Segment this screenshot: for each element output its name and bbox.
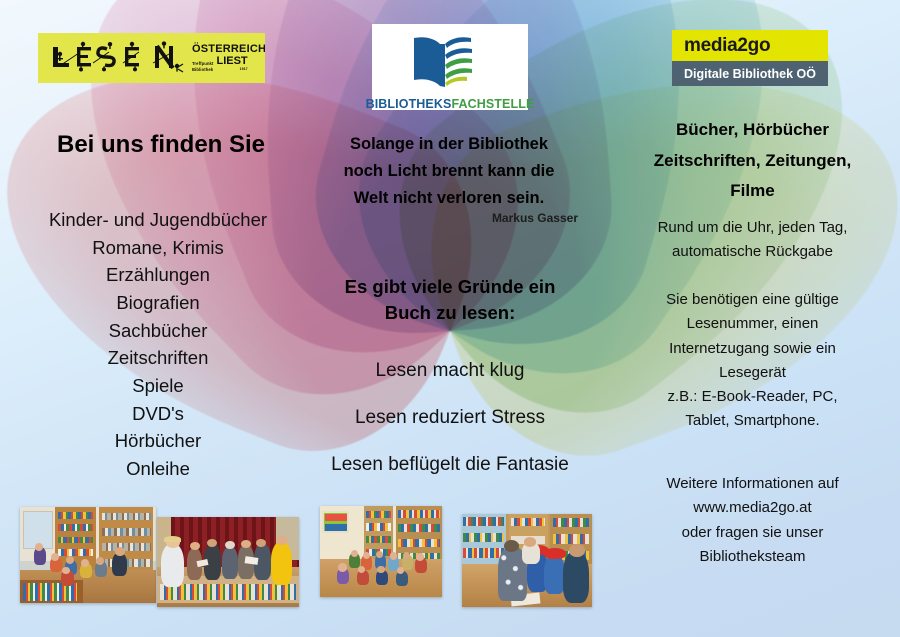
media2go-logo: media2go Digitale Bibliothek OÖ xyxy=(672,30,828,86)
quote-text: Solange in der Bibliotheknoch Licht bren… xyxy=(320,131,578,213)
left-column-heading: Bei uns finden Sie xyxy=(28,131,294,159)
availability-line-1: automatische Rückgabe xyxy=(620,240,885,264)
open-book-icon xyxy=(404,30,496,97)
lesen-wordmark-icon xyxy=(47,41,187,75)
bibliotheksfachstelle-wordmark: BIBLIOTHEKSFACHSTELLE xyxy=(366,97,535,111)
right-paragraph-availability: Rund um die Uhr, jeden Tag,automatische … xyxy=(620,216,885,265)
lesen-logo-year: 1917 xyxy=(216,68,247,72)
lesen-logo-small1: Treffpunkt xyxy=(192,61,213,66)
right-heading-line-2: Filme xyxy=(620,176,885,207)
media2go-subtitle: Digitale Bibliothek OÖ xyxy=(684,67,816,81)
requirement-line-3: Lesegerät xyxy=(620,361,885,385)
bfs-word-b: FACHSTELLE xyxy=(451,97,534,111)
reason-1: Lesen reduziert Stress xyxy=(300,407,600,429)
middle-heading-line-0: Es gibt viele Gründe ein xyxy=(312,274,588,300)
lesen-logo-line1: ÖSTERREICH xyxy=(192,44,265,55)
requirement-line-1: Lesenummer, einen xyxy=(620,312,885,336)
bibliotheksfachstelle-logo: BIBLIOTHEKSFACHSTELLE xyxy=(372,24,528,110)
quote-line-2: Welt nicht verloren sein. xyxy=(320,185,578,212)
reasons-list: Lesen macht klugLesen reduziert StressLe… xyxy=(300,360,600,501)
media2go-subtitle-bar: Digitale Bibliothek OÖ xyxy=(672,61,828,86)
middle-heading-line-1: Buch zu lesen: xyxy=(312,300,588,326)
requirement-line-2: Internetzugang sowie ein xyxy=(620,337,885,361)
lesen-oesterreich-liest-logo: ÖSTERREICH Treffpunkt Bibliothek LIEST 1… xyxy=(38,33,265,83)
photo-library-children-group xyxy=(20,507,156,603)
lesen-logo-small2: Bibliothek xyxy=(192,67,213,72)
lesen-logo-line2: LIEST xyxy=(216,56,247,67)
middle-column-heading: Es gibt viele Gründe einBuch zu lesen: xyxy=(312,274,588,327)
right-paragraph-more-info: Weitere Informationen aufwww.media2go.at… xyxy=(620,472,885,569)
left-list-item-3: Biografien xyxy=(8,289,308,317)
quote-author: Markus Gasser xyxy=(320,211,578,225)
more-info-line-2: oder fragen sie unser xyxy=(620,521,885,545)
photo-class-visit-bookshelves xyxy=(320,506,442,597)
left-list-item-9: Onleihe xyxy=(8,455,308,483)
media2go-title: media2go xyxy=(684,35,770,57)
bfs-word-a: BIBLIOTHEKS xyxy=(366,97,452,111)
right-heading-line-0: Bücher, Hörbücher xyxy=(620,115,885,146)
lesen-logo-text: ÖSTERREICH Treffpunkt Bibliothek LIEST 1… xyxy=(192,44,265,72)
more-info-line-1: www.media2go.at xyxy=(620,496,885,520)
left-column-list: Kinder- und JugendbücherRomane, KrimisEr… xyxy=(8,206,308,483)
more-info-line-0: Weitere Informationen auf xyxy=(620,472,885,496)
photo-children-reading-floor xyxy=(462,514,592,607)
photo-book-sale-event xyxy=(157,517,299,607)
quote-line-0: Solange in der Bibliothek xyxy=(320,131,578,158)
requirement-line-4: z.B.: E-Book-Reader, PC, xyxy=(620,385,885,409)
requirement-line-5: Tablet, Smartphone. xyxy=(620,409,885,433)
reason-2: Lesen beflügelt die Fantasie xyxy=(300,454,600,476)
poster-root: ÖSTERREICH Treffpunkt Bibliothek LIEST 1… xyxy=(0,0,900,637)
right-heading-line-1: Zeitschriften, Zeitungen, xyxy=(620,146,885,177)
left-list-item-2: Erzählungen xyxy=(8,261,308,289)
availability-line-0: Rund um die Uhr, jeden Tag, xyxy=(620,216,885,240)
right-column-heading: Bücher, HörbücherZeitschriften, Zeitunge… xyxy=(620,115,885,207)
quote-line-1: noch Licht brennt kann die xyxy=(320,158,578,185)
left-list-item-8: Hörbücher xyxy=(8,427,308,455)
more-info-line-3: Bibliotheksteam xyxy=(620,545,885,569)
left-list-item-4: Sachbücher xyxy=(8,317,308,345)
left-list-item-7: DVD's xyxy=(8,400,308,428)
left-list-item-5: Zeitschriften xyxy=(8,344,308,372)
left-list-item-0: Kinder- und Jugendbücher xyxy=(8,206,308,234)
reason-0: Lesen macht klug xyxy=(300,360,600,382)
left-list-item-6: Spiele xyxy=(8,372,308,400)
media2go-title-bar: media2go xyxy=(672,30,828,61)
requirement-line-0: Sie benötigen eine gültige xyxy=(620,288,885,312)
right-paragraph-requirements: Sie benötigen eine gültigeLesenummer, ei… xyxy=(620,288,885,434)
left-list-item-1: Romane, Krimis xyxy=(8,234,308,262)
